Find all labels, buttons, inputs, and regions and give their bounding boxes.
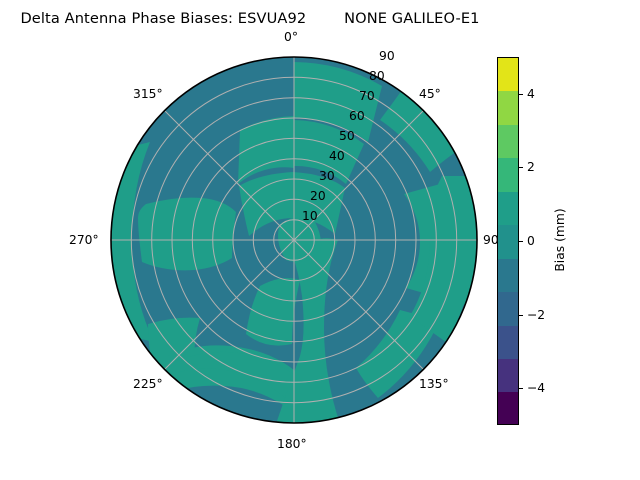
colorbar-band: [498, 91, 518, 124]
colorbar-band: [498, 359, 518, 392]
radial-tick-60: 60: [349, 109, 365, 123]
angular-tick-0: 0°: [284, 30, 298, 44]
radial-tick-30: 30: [319, 169, 335, 183]
colorbar-band: [498, 158, 518, 191]
polar-plot-canvas: [110, 56, 478, 424]
colorbar-tick: [519, 388, 523, 389]
colorbar: 4 2 0 −2 −4: [497, 57, 519, 425]
colorbar-tick-label-0: 0: [527, 234, 535, 248]
colorbar-tick-label-2: 2: [527, 160, 535, 174]
radial-tick-10: 10: [302, 209, 318, 223]
angular-tick-135: 135°: [419, 377, 449, 391]
figure-title: Delta Antenna Phase Biases: ESVUA92 NONE…: [0, 10, 500, 27]
colorbar-tick-label-4: 4: [527, 87, 535, 101]
colorbar-band: [498, 292, 518, 325]
colorbar-band: [498, 326, 518, 359]
colorbar-band: [498, 125, 518, 158]
colorbar-band: [498, 192, 518, 225]
colorbar-band: [498, 225, 518, 258]
radial-tick-90: 90: [379, 49, 395, 63]
colorbar-gradient: [497, 57, 519, 425]
colorbar-tick: [519, 94, 523, 95]
angular-tick-225: 225°: [133, 377, 163, 391]
colorbar-tick: [519, 167, 523, 168]
colorbar-tick-label-m2: −2: [527, 308, 545, 322]
matplotlib-figure: Delta Antenna Phase Biases: ESVUA92 NONE…: [0, 0, 640, 480]
colorbar-band: [498, 58, 518, 91]
polar-grid-spokes: [111, 57, 477, 423]
radial-tick-80: 80: [369, 69, 385, 83]
angular-tick-180: 180°: [277, 437, 307, 451]
radial-tick-40: 40: [329, 149, 345, 163]
colorbar-tick: [519, 241, 523, 242]
colorbar-tick: [519, 315, 523, 316]
angular-tick-315: 315°: [133, 87, 163, 101]
radial-tick-20: 20: [310, 189, 326, 203]
colorbar-axis-label: Bias (mm): [553, 208, 567, 271]
radial-tick-50: 50: [339, 129, 355, 143]
polar-axes: 10 20 30 40 50 60 70 80 90: [110, 56, 478, 424]
angular-tick-45: 45°: [419, 87, 441, 101]
colorbar-band: [498, 259, 518, 292]
colorbar-band: [498, 392, 518, 425]
radial-tick-70: 70: [359, 89, 375, 103]
colorbar-tick-label-m4: −4: [527, 381, 545, 395]
angular-tick-270: 270°: [69, 233, 99, 247]
